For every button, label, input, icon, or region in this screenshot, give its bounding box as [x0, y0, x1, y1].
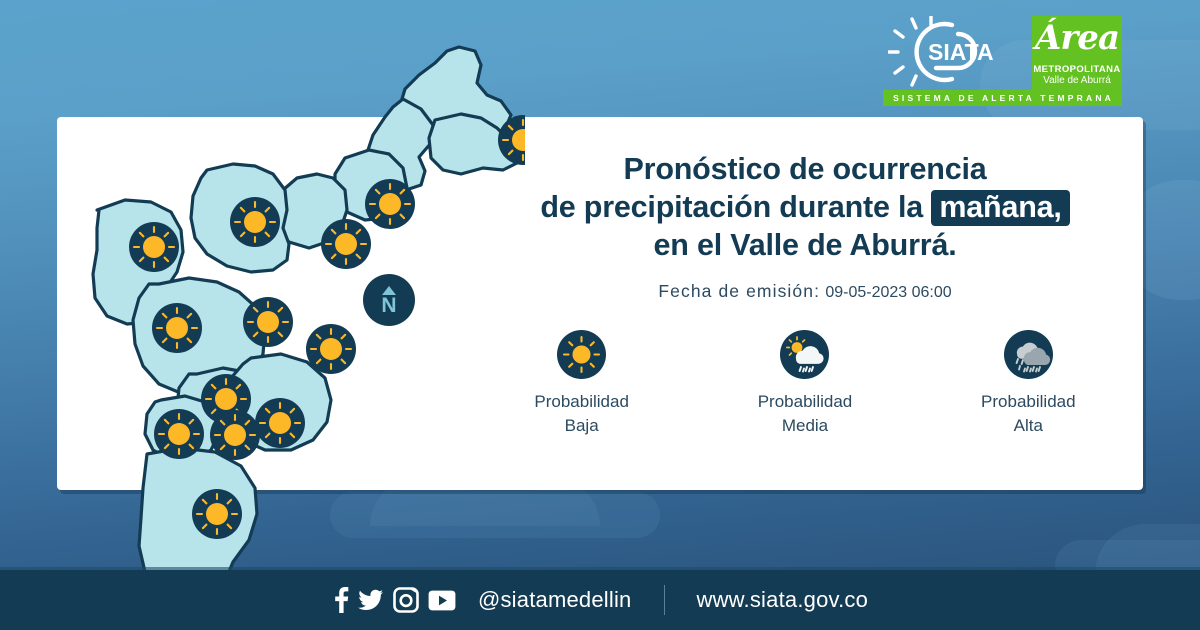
area-logo-script: Área [1032, 18, 1122, 58]
valle-de-aburra-map: N [55, 22, 525, 592]
legend-label-baja-line1: Probabilidad [487, 390, 677, 414]
legend-label-alta-line1: Probabilidad [933, 390, 1123, 414]
svg-text:SIATA: SIATA [928, 39, 994, 65]
map-marker-sun [365, 179, 415, 229]
sun-rain-cloud-glyph [780, 330, 829, 379]
title-line-2: de precipitación durante la mañana, [470, 188, 1140, 226]
legend-label-media: Probabilidad Media [710, 390, 900, 438]
map-marker-sun [255, 398, 305, 448]
instagram-icon[interactable] [393, 587, 419, 613]
title-line-2-text: de precipitación durante la [540, 190, 923, 224]
legend-label-media-line1: Probabilidad [710, 390, 900, 414]
legend-label-media-line2: Media [710, 414, 900, 438]
map-marker-sun [154, 409, 204, 459]
title-highlight-manana: mañana, [931, 190, 1069, 226]
legend-label-alta: Probabilidad Alta [933, 390, 1123, 438]
legend-label-baja-line2: Baja [487, 414, 677, 438]
legend-item-baja: Probabilidad Baja [487, 330, 677, 438]
rain-cloud-icon [1004, 330, 1053, 379]
siata-sun-cloud-icon: SIATA [888, 16, 1018, 88]
probability-legend: Probabilidad Baja [470, 330, 1140, 438]
title-line-3: en el Valle de Aburrá. [470, 226, 1140, 264]
footer-bar: @siatamedellin www.siata.gov.co [0, 570, 1200, 630]
compass-rose: N [363, 274, 415, 326]
map-svg [55, 22, 525, 592]
area-logo-line1: METROPOLITANA [1033, 64, 1120, 75]
legend-item-media: Probabilidad Media [710, 330, 900, 438]
legend-label-alta-line2: Alta [933, 414, 1123, 438]
tagline-banner: SISTEMA DE ALERTA TEMPRANA [883, 90, 1122, 106]
social-handle[interactable]: @siatamedellin [478, 587, 632, 613]
facebook-icon[interactable] [332, 586, 349, 614]
website-url[interactable]: www.siata.gov.co [697, 587, 869, 613]
map-marker-sun [321, 219, 371, 269]
map-marker-sun [243, 297, 293, 347]
map-marker-sun [230, 197, 280, 247]
map-marker-sun [306, 324, 356, 374]
rain-cloud-glyph [1004, 330, 1053, 379]
logo-group: SIATA Área METROPOLITANA Valle de Aburrá [888, 16, 1122, 90]
sun-icon [557, 330, 606, 379]
social-icon-group [332, 586, 456, 614]
compass-label: N [381, 296, 396, 315]
title-line-1: Pronóstico de ocurrencia [470, 150, 1140, 188]
map-marker-sun [192, 489, 242, 539]
legend-item-alta: Probabilidad Alta [933, 330, 1123, 438]
footer-separator [664, 585, 665, 615]
twitter-icon[interactable] [358, 586, 384, 614]
text-panel: Pronóstico de ocurrencia de precipitació… [470, 150, 1140, 302]
issue-date: Fecha de emisión: 09-05-2023 06:00 [470, 281, 1140, 302]
legend-label-baja: Probabilidad Baja [487, 390, 677, 438]
map-marker-sun [210, 410, 260, 460]
area-logo-line2: Valle de Aburrá [1043, 75, 1111, 86]
map-marker-sun [152, 303, 202, 353]
siata-logo: SIATA [888, 16, 1018, 88]
map-marker-sun [129, 222, 179, 272]
issue-date-label: Fecha de emisión: [658, 281, 820, 301]
area-metropolitana-logo: Área METROPOLITANA Valle de Aburrá [1032, 16, 1122, 90]
sun-glyph [557, 330, 606, 379]
infographic-root: SIATA Área METROPOLITANA Valle de Aburrá… [0, 0, 1200, 630]
youtube-icon[interactable] [428, 590, 456, 611]
page-title: Pronóstico de ocurrencia de precipitació… [470, 150, 1140, 264]
sun-rain-cloud-icon [780, 330, 829, 379]
issue-date-value: 09-05-2023 06:00 [825, 284, 951, 301]
